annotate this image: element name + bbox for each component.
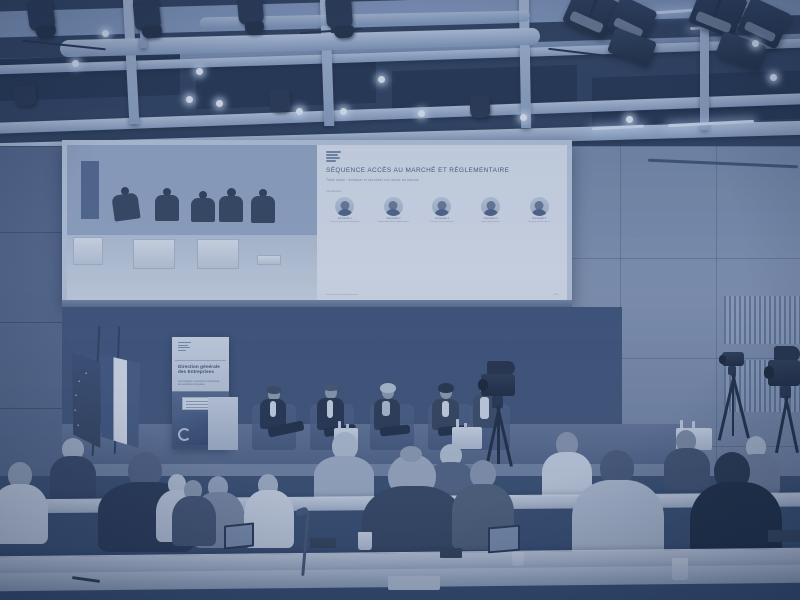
side-wall	[0, 146, 62, 476]
paper-cup	[358, 532, 372, 550]
live-camera-feed	[67, 145, 317, 301]
laptop	[224, 522, 254, 549]
slide-footer: Direction générale des Entreprises 2024	[326, 294, 558, 296]
panelist-role: Responsable affaires réglementaires	[378, 221, 409, 223]
slide-subtitle: Table ronde : Anticiper et sécuriser son…	[326, 178, 559, 182]
panelist-card: Intervenant 3 Directrice accès au marché	[422, 197, 462, 224]
panelist-role: Direction générale des Entreprises	[330, 221, 359, 223]
conference-photo: SÉQUENCE ACCÈS AU MARCHÉ ET RÉGLEMENTAIR…	[0, 0, 800, 600]
paper-cup	[672, 558, 688, 580]
rollup-subtitle: Accompagner et soutenir la compétitivité…	[178, 381, 223, 387]
panelist-photo	[530, 197, 549, 216]
panelist-photo	[432, 197, 451, 216]
panelist-card: Intervenant 4 Expert réglementation	[471, 197, 511, 224]
audience	[0, 430, 800, 600]
desk-control-panel	[388, 576, 440, 590]
slide-title: SÉQUENCE ACCÈS AU MARCHÉ ET RÉGLEMENTAIR…	[326, 167, 559, 174]
panelist-photo	[384, 197, 403, 216]
slide-footer-left: Direction générale des Entreprises	[326, 294, 358, 296]
paper-cup	[512, 552, 524, 566]
laptop	[488, 525, 520, 554]
panelist-card: Intervenant 1 Direction générale des Ent…	[325, 197, 365, 224]
rollup-title: Direction générale des Entreprises	[178, 364, 223, 375]
feed-rollup-banner	[81, 161, 99, 219]
screen-bottom-bar	[62, 300, 572, 307]
ceiling-rig	[0, 0, 800, 152]
notebook	[310, 538, 336, 548]
panelist-card: Intervenant 5 Chargé de mission marché	[519, 197, 559, 224]
republique-francaise-logo-icon	[178, 342, 191, 351]
republique-francaise-logo-icon	[326, 151, 341, 162]
panelist-card: Intervenant 2 Responsable affaires régle…	[374, 197, 414, 224]
presentation-slide: SÉQUENCE ACCÈS AU MARCHÉ ET RÉGLEMENTAIR…	[317, 145, 567, 301]
panelists-row: Intervenant 1 Direction générale des Ent…	[325, 197, 559, 224]
panelist-role: Chargé de mission marché	[528, 221, 551, 223]
panelist-photo	[335, 197, 354, 216]
slide-footer-right: 2024	[553, 294, 558, 296]
projection-screen: SÉQUENCE ACCÈS AU MARCHÉ ET RÉGLEMENTAIR…	[62, 140, 572, 306]
phone	[440, 548, 462, 558]
ceiling-downlight	[102, 30, 109, 37]
panelist-photo	[481, 197, 500, 216]
panelists-label: Intervenants	[326, 190, 341, 193]
wall-rail	[648, 159, 798, 169]
panelist-role: Directrice accès au marché	[431, 221, 454, 223]
panelist-role: Expert réglementation	[481, 221, 500, 223]
notebook	[768, 530, 800, 542]
ventilation-grille	[724, 296, 800, 344]
